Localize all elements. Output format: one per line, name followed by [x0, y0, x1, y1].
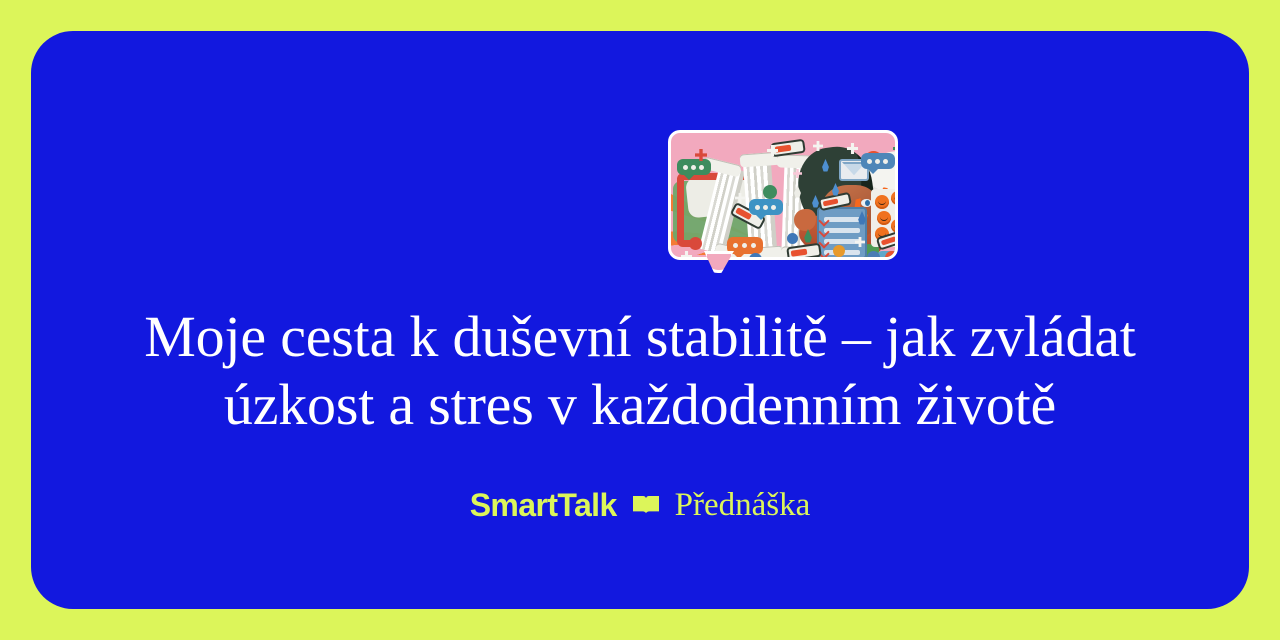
footer: SmartTalk Přednáška [31, 487, 1249, 524]
page-title: Moje cesta k duševní stabilitě – jak zvl… [111, 303, 1169, 440]
dot-shape [763, 185, 777, 199]
chat-bubble-icon [861, 153, 895, 169]
session-kind-label: Přednáška [675, 487, 811, 524]
chat-bubble-icon [749, 199, 783, 215]
dot-shape [787, 233, 798, 244]
book-icon [633, 496, 659, 515]
slide: Moje cesta k duševní stabilitě – jak zvl… [0, 0, 1280, 640]
illustration-card [668, 130, 898, 260]
dot-shape [833, 245, 845, 257]
illustration-canvas [671, 133, 895, 257]
dot-shape [689, 237, 702, 250]
dot-shape [885, 251, 895, 257]
illustration-card-wrapper [668, 130, 898, 260]
brand-name: SmartTalk [470, 487, 617, 524]
person-hand-shape [794, 209, 816, 231]
chat-bubble-icon [677, 159, 711, 175]
dot-shape [867, 251, 880, 257]
page-title-line-1: Moje cesta k duševní stabilitě – jak zvl… [111, 303, 1169, 371]
page-title-line-2: úzkost a stres v každodenním životě [111, 371, 1169, 439]
speech-bubble-tail [704, 257, 734, 273]
slide-panel: Moje cesta k duševní stabilitě – jak zvl… [31, 31, 1249, 609]
